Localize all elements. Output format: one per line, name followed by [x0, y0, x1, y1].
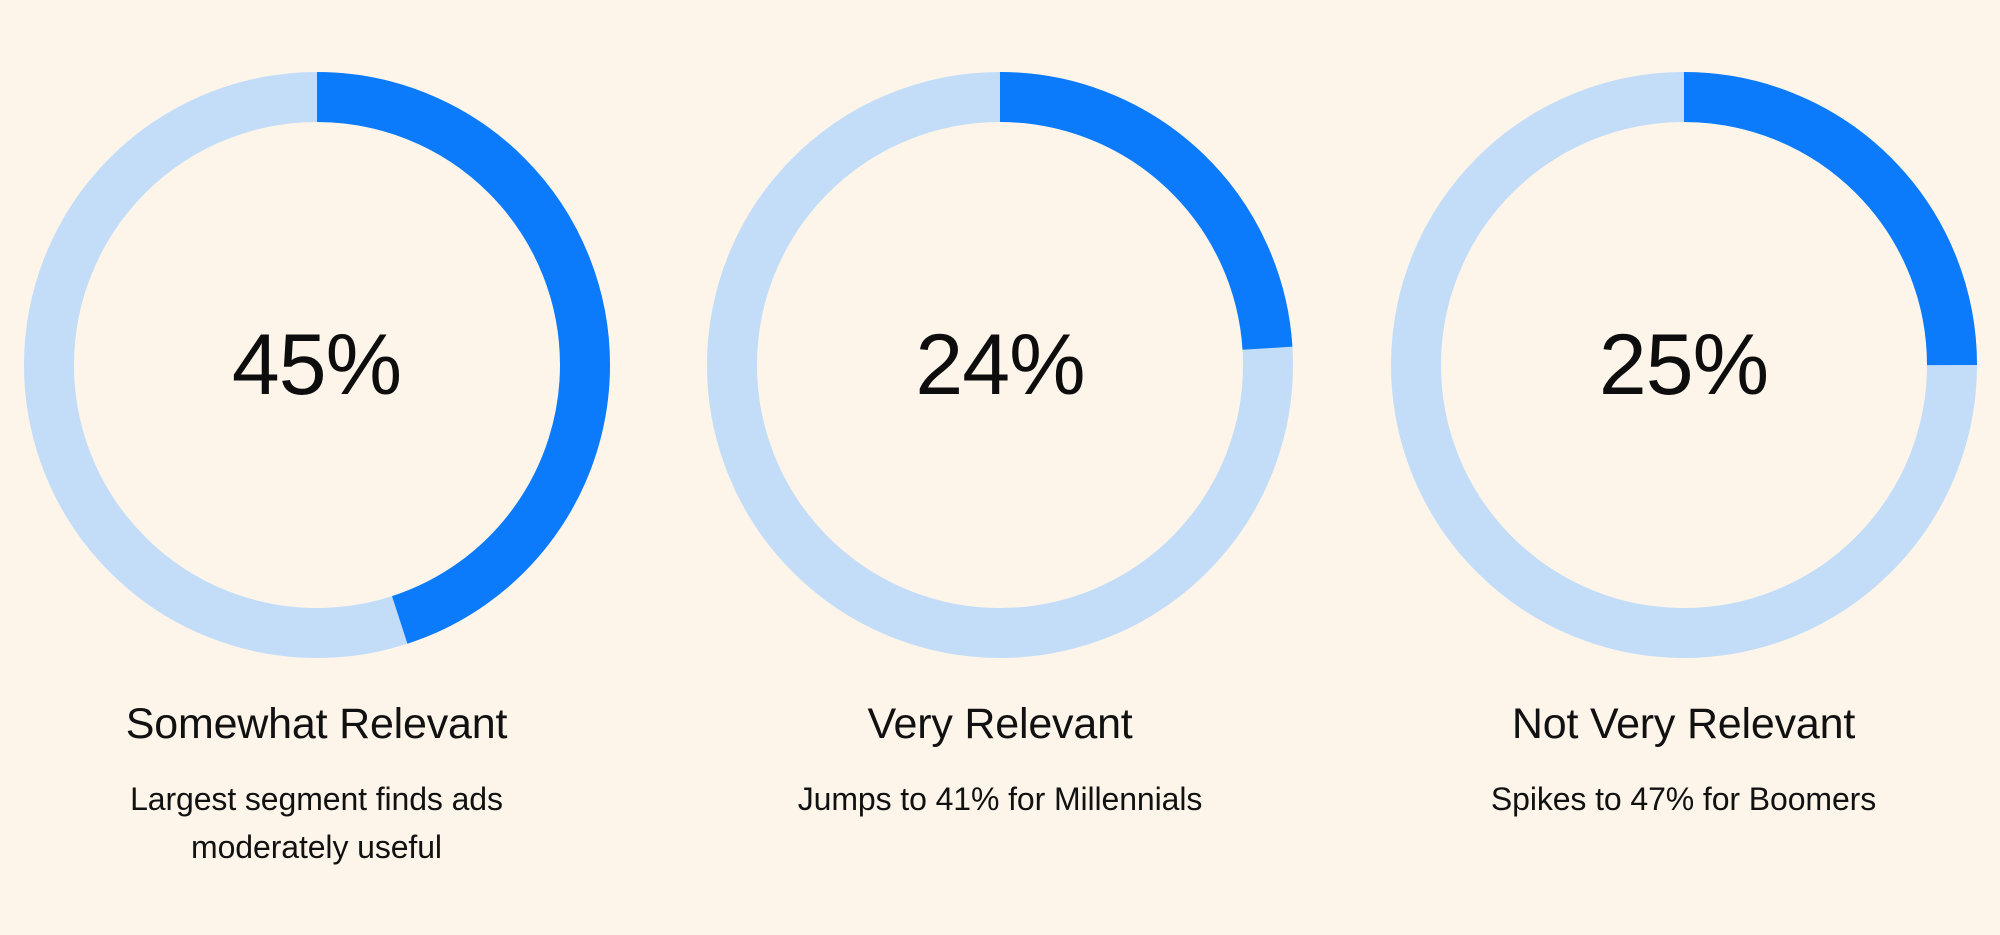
gauge-title-2: Very Relevant [867, 700, 1132, 749]
gauge-card-somewhat-relevant: 45% Somewhat Relevant Largest segment fi… [0, 0, 633, 871]
donut-gauge-2: 24% [707, 72, 1293, 658]
donut-gauge-chart-board: 45% Somewhat Relevant Largest segment fi… [0, 0, 2000, 935]
gauge-title-1: Somewhat Relevant [126, 700, 507, 749]
donut-gauge-3-value-text: 25% [1391, 72, 1977, 658]
gauge-title-3: Not Very Relevant [1512, 700, 1855, 749]
gauge-card-very-relevant: 24% Very Relevant Jumps to 41% for Mille… [684, 0, 1317, 823]
donut-gauge-1: 45% [24, 72, 610, 658]
gauge-card-not-very-relevant: 25% Not Very Relevant Spikes to 47% for … [1367, 0, 2000, 823]
gauge-caption-2: Jumps to 41% for Millennials [798, 775, 1202, 823]
donut-gauge-2-value-text: 24% [707, 72, 1293, 658]
gauge-caption-1: Largest segment finds ads moderately use… [77, 775, 557, 871]
gauge-caption-3: Spikes to 47% for Boomers [1491, 775, 1876, 823]
donut-gauge-3: 25% [1391, 72, 1977, 658]
donut-gauge-1-value-text: 45% [24, 72, 610, 658]
